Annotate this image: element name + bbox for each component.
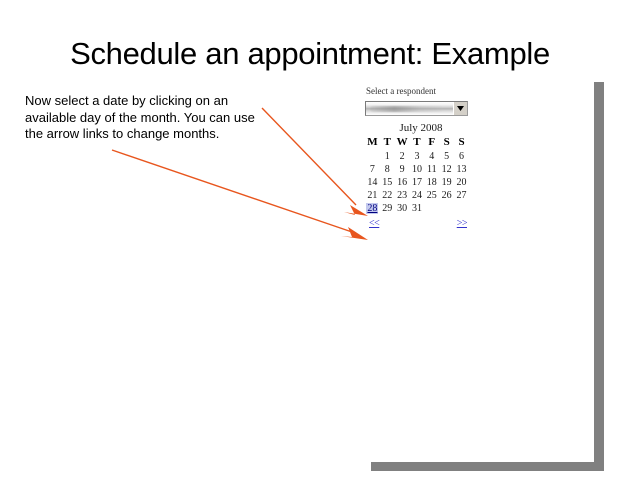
calendar-day-empty [454, 202, 469, 215]
calendar-day: 2 [395, 150, 410, 163]
chevron-down-icon[interactable] [453, 102, 467, 115]
annotation-arrow-to-day [262, 108, 368, 216]
slide-frame-edge-right [591, 82, 594, 470]
calendar-day: 1 [380, 150, 395, 163]
calendar-week-row: 14 15 16 17 18 19 20 [365, 176, 469, 189]
calendar-day: 26 [439, 189, 454, 202]
annotation-arrow-to-nav [112, 150, 368, 240]
weekday-header: F [424, 136, 439, 150]
calendar-day: 7 [365, 163, 380, 176]
calendar-day: 27 [454, 189, 469, 202]
calendar-day-empty [365, 150, 380, 163]
calendar-day: 19 [439, 176, 454, 189]
calendar-day: 24 [410, 189, 425, 202]
calendar-month-title: July 2008 [365, 121, 477, 135]
next-month-link[interactable]: >> [457, 218, 467, 229]
calendar-day: 11 [424, 163, 439, 176]
calendar-day: 13 [454, 163, 469, 176]
weekday-header: M [365, 136, 380, 150]
weekday-header: T [380, 136, 395, 150]
calendar-day-empty [439, 202, 454, 215]
calendar-day: 20 [454, 176, 469, 189]
calendar-day: 6 [454, 150, 469, 163]
calendar-day: 18 [424, 176, 439, 189]
calendar-week-row: 1 2 3 4 5 6 [365, 150, 469, 163]
respondent-select[interactable] [365, 101, 468, 116]
calendar-day: 31 [410, 202, 425, 215]
calendar-day: 3 [410, 150, 425, 163]
calendar-day: 22 [380, 189, 395, 202]
calendar-day: 10 [410, 163, 425, 176]
previous-month-link[interactable]: << [369, 218, 379, 229]
annotation-arrows [0, 0, 640, 480]
calendar-day: 21 [365, 189, 380, 202]
calendar-widget: Select a respondent July 2008 M T W T F … [365, 86, 477, 229]
slide-frame-shadow-right [594, 82, 604, 470]
calendar-day: 12 [439, 163, 454, 176]
calendar-day: 30 [395, 202, 410, 215]
calendar-day: 25 [424, 189, 439, 202]
calendar-day: 17 [410, 176, 425, 189]
instruction-text: Now select a date by clicking on an avai… [25, 93, 273, 143]
weekday-header: S [454, 136, 469, 150]
calendar-day-empty [424, 202, 439, 215]
calendar-week-row: 21 22 23 24 25 26 27 [365, 189, 469, 202]
slide-frame-shadow-bottom [371, 462, 604, 471]
calendar-day: 15 [380, 176, 395, 189]
calendar-day: 8 [380, 163, 395, 176]
weekday-header: S [439, 136, 454, 150]
respondent-select-value [366, 102, 453, 115]
calendar-day-link[interactable]: 28 [366, 203, 378, 214]
calendar-week-row: 28 29 30 31 [365, 202, 469, 215]
calendar-grid: M T W T F S S 1 2 3 4 5 6 7 8 9 [365, 136, 469, 215]
calendar-day: 14 [365, 176, 380, 189]
calendar-day: 23 [395, 189, 410, 202]
calendar-day: 4 [424, 150, 439, 163]
weekday-header: T [410, 136, 425, 150]
calendar-day-selected[interactable]: 28 [365, 202, 380, 215]
calendar-day: 29 [380, 202, 395, 215]
calendar-day: 16 [395, 176, 410, 189]
calendar-day: 9 [395, 163, 410, 176]
weekday-header: W [395, 136, 410, 150]
calendar-day: 5 [439, 150, 454, 163]
calendar-weekday-header-row: M T W T F S S [365, 136, 469, 150]
calendar-navigation: << >> [365, 218, 469, 229]
page-title: Schedule an appointment: Example [0, 36, 620, 72]
respondent-select-label: Select a respondent [366, 86, 477, 97]
calendar-week-row: 7 8 9 10 11 12 13 [365, 163, 469, 176]
